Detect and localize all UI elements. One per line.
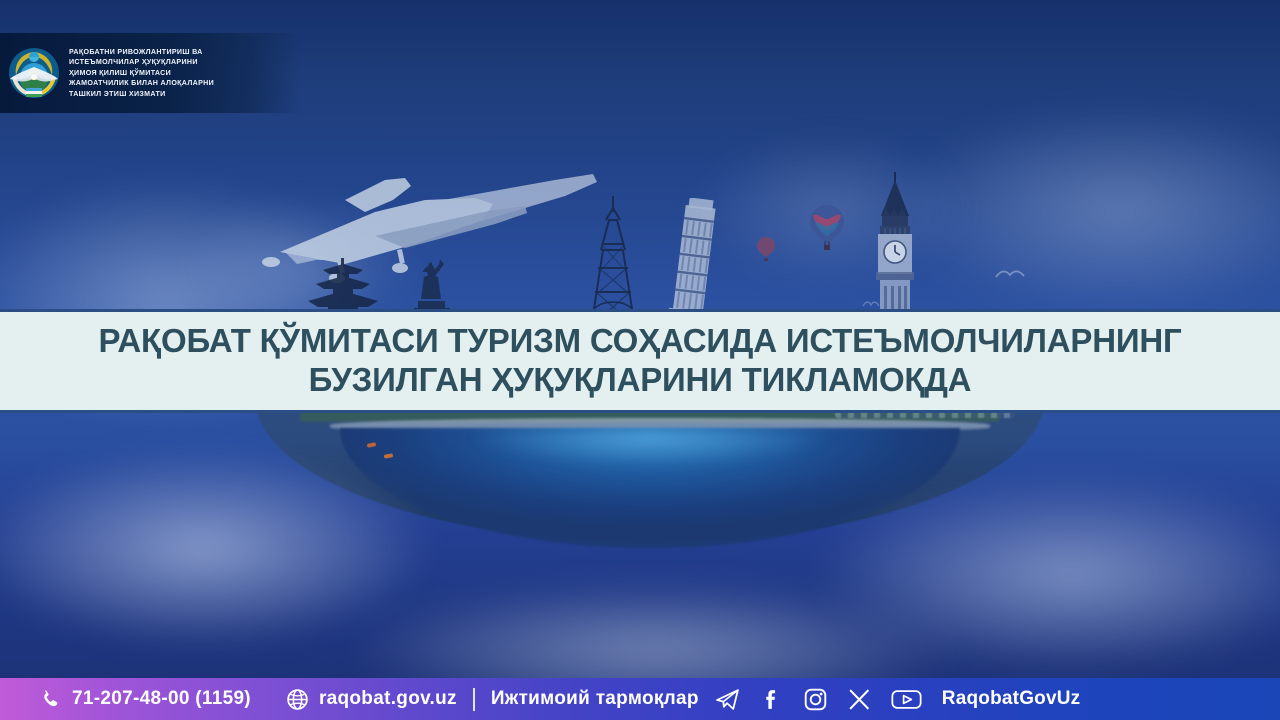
bird-icon bbox=[995, 268, 1025, 280]
phone-contact[interactable]: 71-207-48-00 (1159) bbox=[38, 687, 251, 712]
globe-icon bbox=[285, 687, 310, 712]
youtube-icon[interactable] bbox=[891, 687, 922, 712]
eiffel-tower-icon bbox=[586, 196, 640, 324]
facebook-icon[interactable] bbox=[759, 687, 784, 712]
footer-divider bbox=[473, 688, 475, 711]
hot-air-balloon-icon bbox=[757, 237, 775, 263]
telegram-icon[interactable] bbox=[715, 687, 740, 712]
social-networks-label: Ижтимоий тармоқлар bbox=[491, 688, 699, 710]
leaning-tower-of-pisa-icon bbox=[650, 198, 724, 324]
uzbekistan-state-emblem-icon bbox=[8, 47, 60, 99]
organization-name: РАҚОБАТНИ РИВОЖЛАНТИРИШ ВА ИСТЕЪМОЛЧИЛАР… bbox=[69, 47, 214, 99]
page-title: РАҚОБАТ ҚЎМИТАСИ ТУРИЗМ СОҲАСИДА ИСТЕЪМО… bbox=[0, 322, 1280, 400]
website-url: raqobat.gov.uz bbox=[319, 688, 457, 710]
x-twitter-icon[interactable] bbox=[847, 687, 872, 712]
social-handle: RaqobatGovUz bbox=[942, 688, 1081, 710]
instagram-icon[interactable] bbox=[803, 687, 828, 712]
hot-air-balloon-icon bbox=[810, 205, 844, 253]
phone-icon bbox=[38, 687, 63, 712]
poster: РАҚОБАТНИ РИВОЖЛАНТИРИШ ВА ИСТЕЪМОЛЧИЛАР… bbox=[0, 0, 1280, 720]
website-contact[interactable]: raqobat.gov.uz bbox=[285, 687, 457, 712]
social-links bbox=[715, 687, 922, 712]
phone-number: 71-207-48-00 (1159) bbox=[72, 688, 251, 710]
contact-footer: 71-207-48-00 (1159) raqobat.gov.uz Ижтим… bbox=[0, 678, 1280, 720]
bird-icon bbox=[862, 300, 880, 308]
headline-banner: РАҚОБАТ ҚЎМИТАСИ ТУРИЗМ СОҲАСИДА ИСТЕЪМО… bbox=[0, 309, 1280, 413]
organization-logo-bar: РАҚОБАТНИ РИВОЖЛАНТИРИШ ВА ИСТЕЪМОЛЧИЛАР… bbox=[0, 33, 300, 113]
